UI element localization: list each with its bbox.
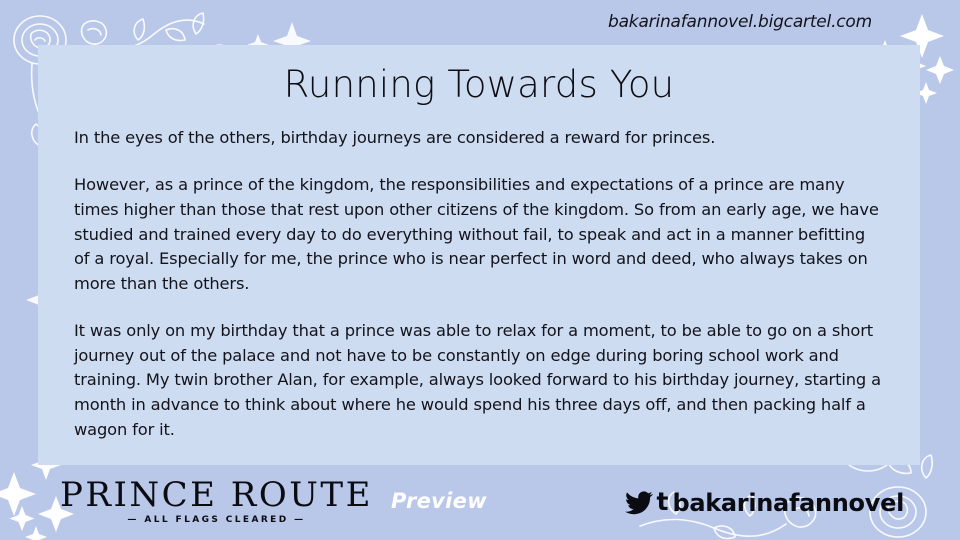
tumblr-icon[interactable]: t (657, 489, 669, 514)
preview-badge: Preview (391, 489, 487, 513)
paragraph-3: It was only on my birthday that a prince… (74, 319, 884, 443)
page-title: Running Towards You (72, 61, 886, 108)
paragraph-2: However, as a prince of the kingdom, the… (74, 173, 884, 297)
brand-block: PRINCE ROUTE — ALL FLAGS CLEARED — Previ… (60, 478, 487, 527)
content-card: Running Towards You In the eyes of the o… (38, 45, 920, 465)
logo-subtitle: — ALL FLAGS CLEARED — (60, 515, 373, 525)
story-body: In the eyes of the others, birthday jour… (72, 126, 886, 442)
prince-route-logo: PRINCE ROUTE — ALL FLAGS CLEARED — (60, 478, 373, 527)
footer: PRINCE ROUTE — ALL FLAGS CLEARED — Previ… (0, 465, 960, 540)
paragraph-1: In the eyes of the others, birthday jour… (74, 126, 884, 151)
handle-name[interactable]: bakarinafannovel (672, 491, 904, 515)
twitter-bird-icon[interactable] (625, 491, 653, 515)
site-url: bakarinafannovel.bigcartel.com (608, 12, 872, 32)
logo-wordmark: PRINCE ROUTE (60, 478, 373, 512)
social-handle[interactable]: t bakarinafannovel (625, 490, 904, 515)
